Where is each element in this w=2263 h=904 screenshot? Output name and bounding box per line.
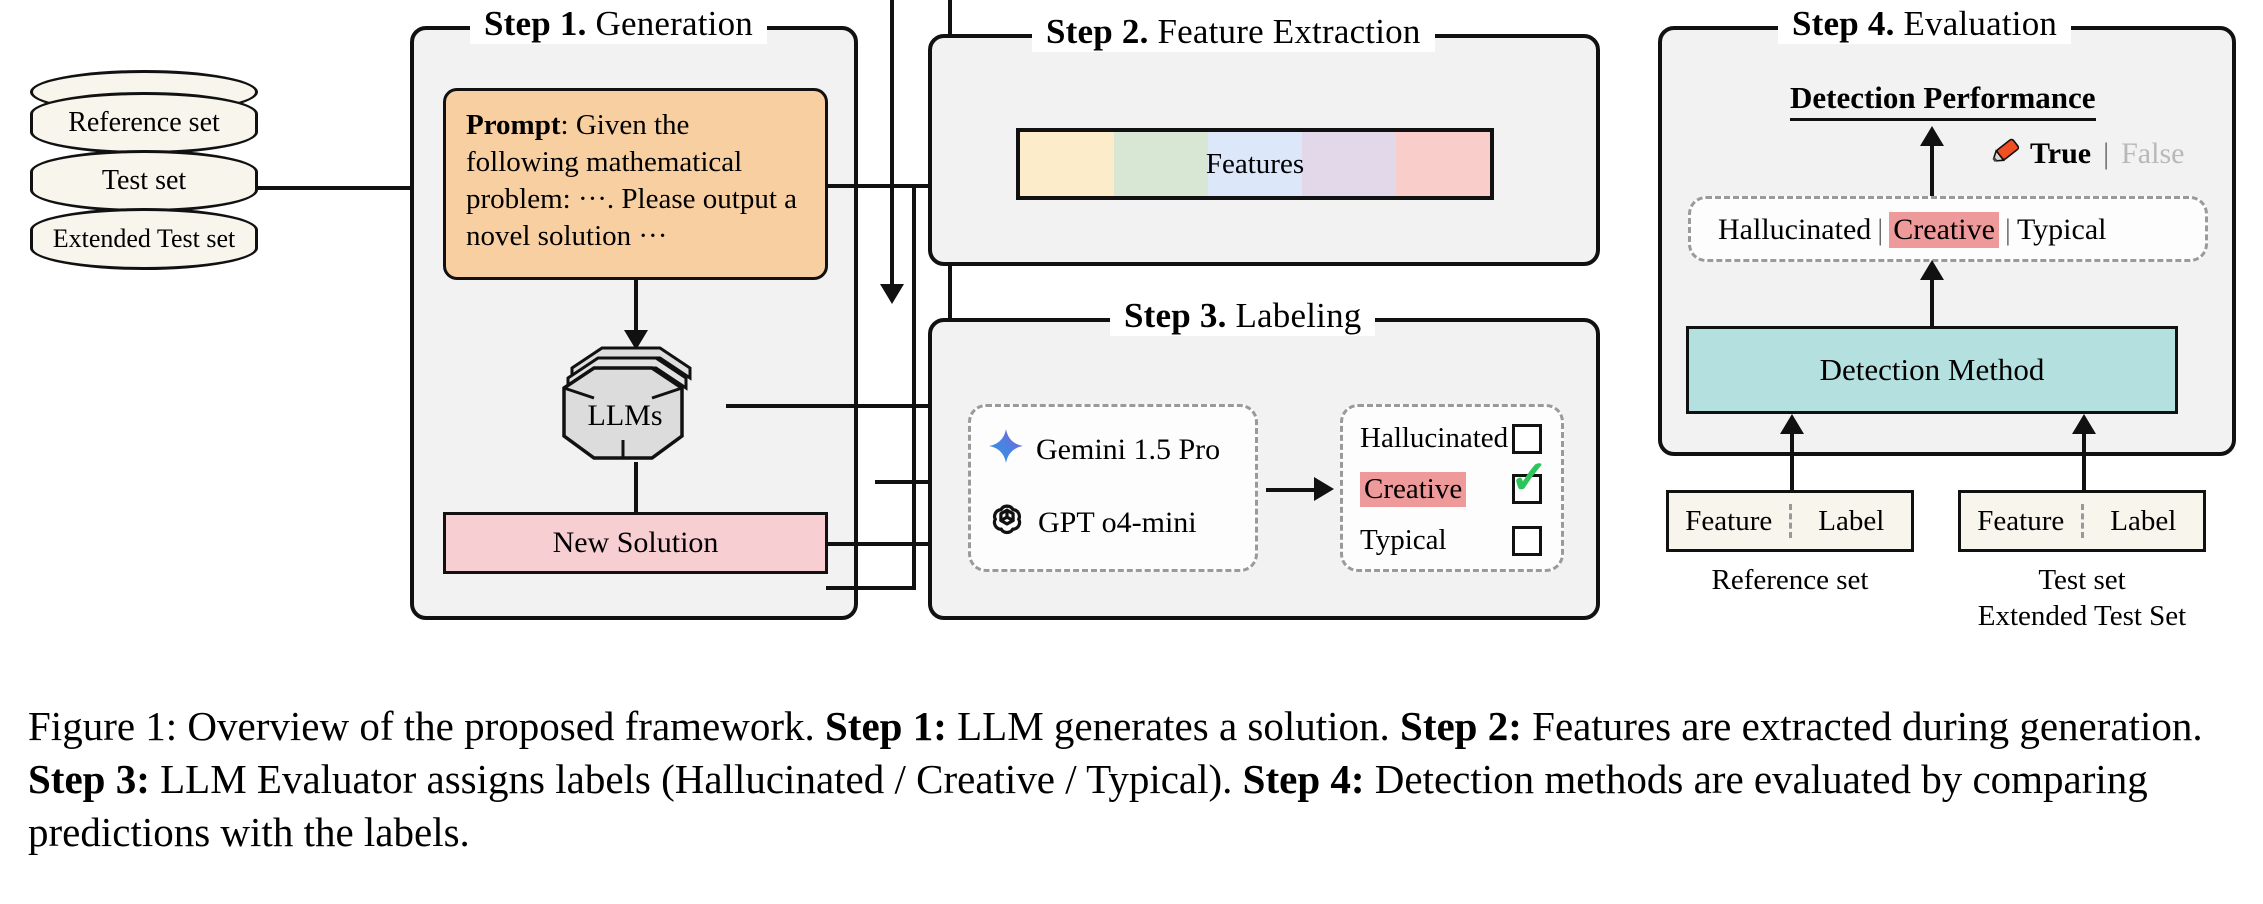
connector-prompt-bottom [826, 586, 916, 590]
label-row-typical[interactable]: Typical [1360, 524, 1447, 557]
feature-label-box-test[interactable]: Feature Label [1958, 490, 2206, 552]
prediction-option-typical: Typical [2017, 213, 2107, 247]
prediction-separator-1: | [1871, 213, 1889, 247]
feature-text-test: Feature [1977, 505, 2064, 538]
new-solution-label: New Solution [553, 526, 719, 560]
label-row-creative[interactable]: Creative [1360, 472, 1466, 507]
prediction-separator-2: | [1999, 213, 2017, 247]
cylinder-segment-reference[interactable]: Reference set [30, 92, 258, 154]
llms-label-wrap: LLMs [530, 346, 720, 486]
features-label-wrap: Features [1020, 132, 1490, 196]
label-text-reference: Label [1818, 505, 1884, 538]
detection-method-label: Detection Method [1820, 352, 2045, 388]
prediction-option-creative: Creative [1889, 212, 1999, 248]
detection-method-box[interactable]: Detection Method [1686, 326, 2178, 414]
caption-step3-bold: Step 3: [28, 756, 150, 802]
connector-prompt-down [912, 184, 916, 590]
marker-pen-icon [1990, 135, 2024, 173]
label-text-hallucinated: Hallucinated [1360, 422, 1508, 455]
connector-newsolution-out [826, 542, 936, 546]
caption-reference-set: Reference set [1666, 562, 1914, 598]
caption-reference-line1: Reference set [1666, 562, 1914, 598]
new-solution-box[interactable]: New Solution [443, 512, 828, 574]
arrowhead-method-to-prediction [1920, 260, 1944, 280]
step3-title: Step 3. Labeling [1110, 296, 1375, 336]
caption-test-set: Test set Extended Test Set [1938, 562, 2226, 634]
cylinder-segment-test[interactable]: Test set [30, 150, 258, 212]
verdict-false: False [2121, 137, 2184, 171]
arrowhead-models-to-labels [1314, 477, 1334, 501]
step3-title-rest: Labeling [1227, 296, 1362, 335]
caption-step2-bold: Step 2: [1400, 703, 1522, 749]
label-text-test: Label [2110, 505, 2176, 538]
verdict-true: True [2030, 137, 2091, 171]
caption-step2-text: Features are extracted during generation… [1522, 703, 2203, 749]
feature-cell-reference: Feature [1669, 493, 1789, 549]
caption-step1-text: LLM generates a solution. [947, 703, 1400, 749]
checkbox-typical[interactable] [1512, 526, 1542, 556]
label-row-hallucinated[interactable]: Hallucinated [1360, 422, 1508, 455]
figure-canvas: Reference set Test set Extended Test set… [0, 0, 2263, 904]
detection-performance-text: Detection Performance [1790, 80, 2096, 115]
arrowhead-prediction-to-performance [1920, 126, 1944, 146]
llms-label: LLMs [588, 399, 663, 433]
verdict-separator: | [2097, 137, 2115, 171]
figure-caption: Figure 1: Overview of the proposed frame… [28, 700, 2243, 859]
label-cell-reference: Label [1792, 493, 1912, 549]
model-row-gemini[interactable]: Gemini 1.5 Pro [988, 428, 1220, 472]
gemini-model-name: Gemini 1.5 Pro [1036, 433, 1220, 467]
detection-performance-heading: Detection Performance [1790, 80, 2096, 121]
datasets-cylinder: Reference set Test set Extended Test set [30, 70, 258, 230]
arrowhead-test-to-method [2072, 414, 2096, 434]
step4-title-rest: Evaluation [1895, 4, 2058, 43]
caption-step3-text: LLM Evaluator assigns labels (Hallucinat… [150, 756, 1243, 802]
llms-node[interactable]: LLMs [542, 336, 732, 476]
cylinder-segment-extended[interactable]: Extended Test set [30, 208, 258, 270]
cylinder-label-test: Test set [102, 165, 186, 197]
label-text-creative: Creative [1360, 472, 1466, 507]
caption-test-line2: Extended Test Set [1938, 598, 2226, 634]
prediction-options-row: Hallucinated | Creative | Typical [1718, 212, 2106, 248]
connector-method-to-prediction [1930, 272, 1934, 326]
cylinder-label-reference: Reference set [68, 107, 220, 139]
step2-title-bold: Step 2. [1046, 12, 1149, 51]
step2-title-rest: Feature Extraction [1149, 12, 1421, 51]
feature-cell-test: Feature [1961, 493, 2081, 549]
gemini-sparkle-icon [988, 428, 1024, 472]
arrowhead-reference-to-method [1780, 414, 1804, 434]
checkmark-icon: ✓ [1510, 455, 1549, 501]
label-text-typical: Typical [1360, 524, 1447, 557]
prediction-option-hallucinated: Hallucinated [1718, 213, 1871, 247]
caption-step4-bold: Step 4: [1243, 756, 1365, 802]
step3-title-bold: Step 3. [1124, 296, 1227, 335]
connector-llms-out [726, 404, 951, 408]
connector-bus-mid [890, 220, 894, 292]
verdict-row: True | False [1990, 135, 2184, 173]
step2-title: Step 2. Feature Extraction [1032, 12, 1435, 52]
step1-title: Step 1. Generation [470, 4, 767, 44]
caption-step1-bold: Step 1: [825, 703, 947, 749]
connector-cylinder-to-prompt [256, 186, 418, 190]
step1-title-rest: Generation [587, 4, 753, 43]
connector-models-to-labels [1266, 488, 1320, 492]
feature-text-reference: Feature [1685, 505, 1772, 538]
caption-test-line1: Test set [1938, 562, 2226, 598]
features-bar[interactable]: Features [1016, 128, 1494, 200]
feature-label-box-reference[interactable]: Feature Label [1666, 490, 1914, 552]
openai-logo-icon [988, 500, 1026, 546]
gpt-model-name: GPT o4-mini [1038, 506, 1197, 540]
caption-prefix: Figure 1: Overview of the proposed frame… [28, 703, 815, 749]
label-cell-test: Label [2084, 493, 2204, 549]
step4-title-bold: Step 4. [1792, 4, 1895, 43]
cylinder-label-extended: Extended Test set [53, 224, 236, 254]
features-label: Features [1206, 148, 1304, 181]
model-row-gpt[interactable]: GPT o4-mini [988, 500, 1197, 546]
step1-title-bold: Step 1. [484, 4, 587, 43]
checkbox-hallucinated[interactable] [1512, 424, 1542, 454]
step4-title: Step 4. Evaluation [1778, 4, 2071, 44]
connector-prompt-to-llms [634, 280, 638, 336]
prompt-label: Prompt [466, 109, 561, 141]
prompt-box[interactable]: Prompt: Given the following mathematical… [443, 88, 828, 280]
